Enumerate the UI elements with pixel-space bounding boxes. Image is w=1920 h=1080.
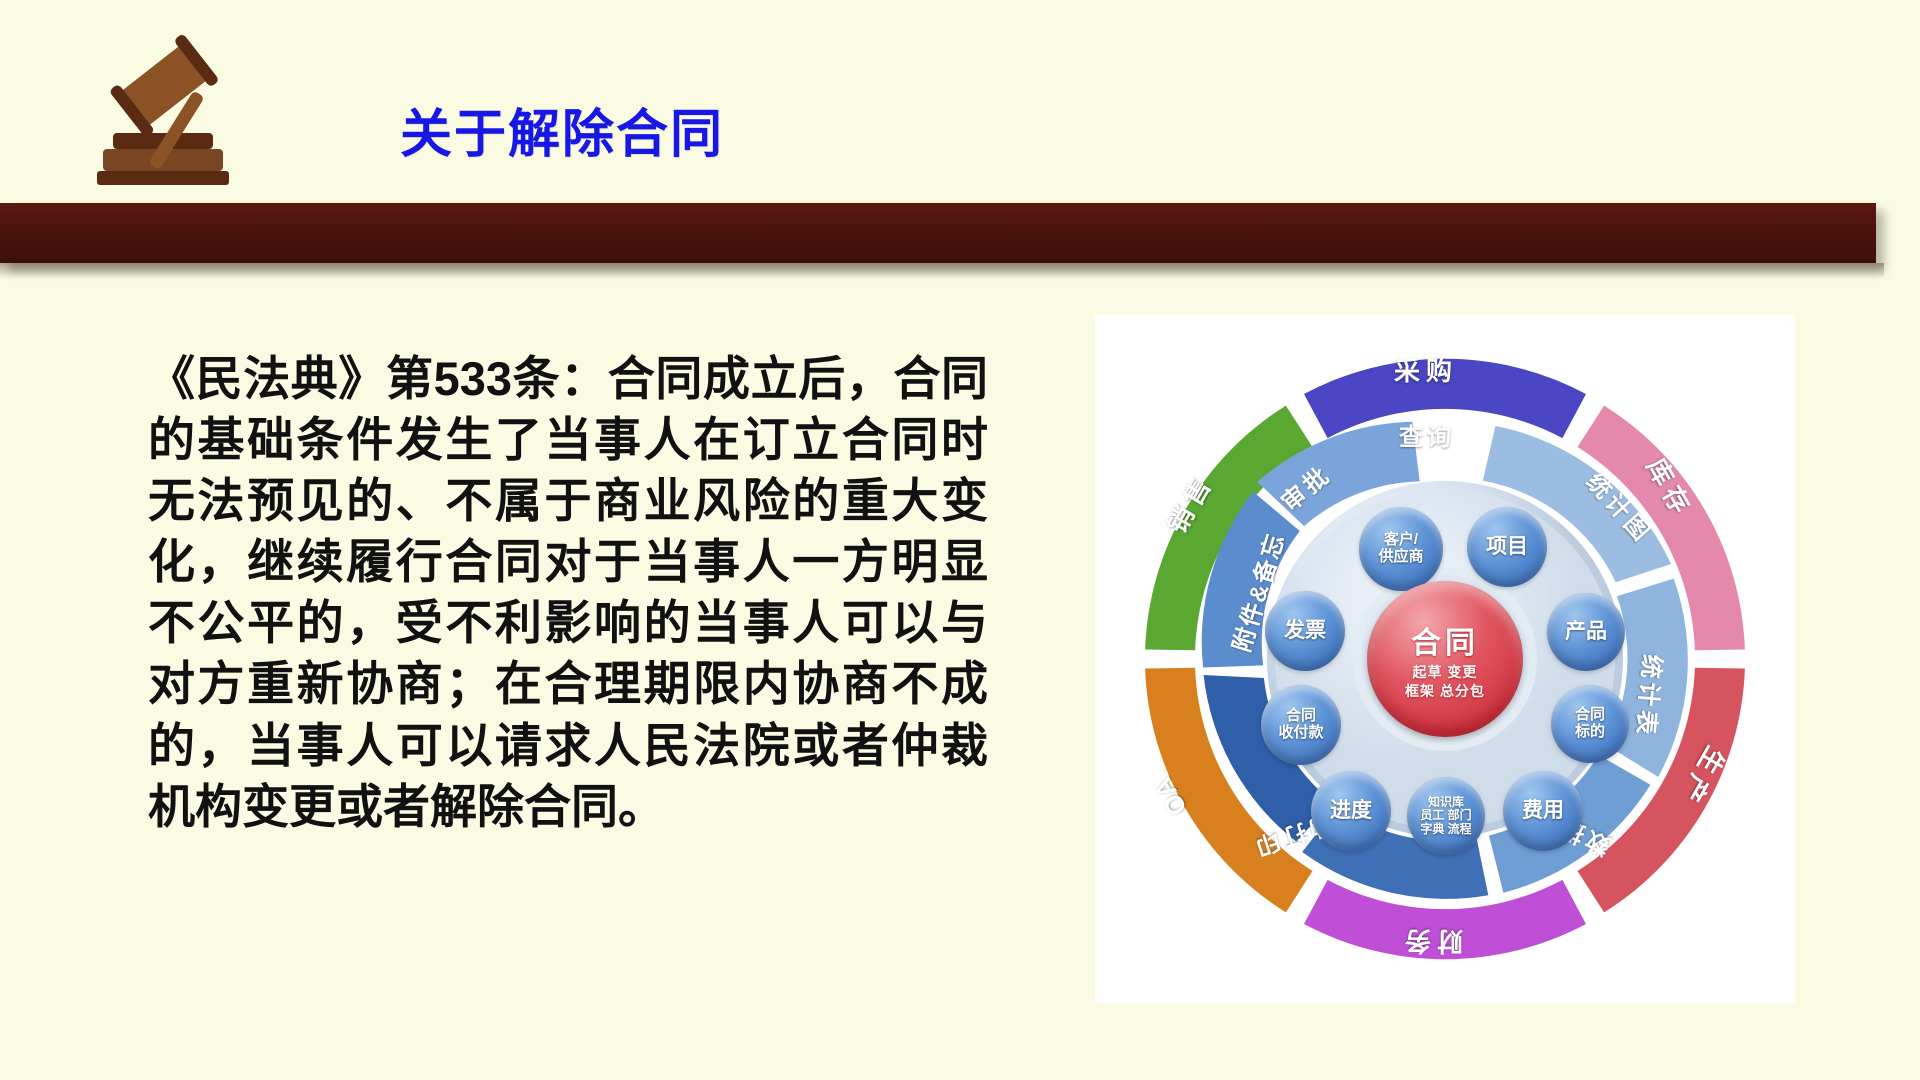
hub-sub-2: 框架 总分包 — [1405, 683, 1485, 700]
hub-title: 合同 — [1411, 618, 1479, 662]
gavel-icon — [75, 25, 255, 185]
node-label: 项目 — [1486, 535, 1528, 559]
node-label: 合同 标的 — [1575, 707, 1605, 741]
node-invoice: 发票 — [1265, 591, 1345, 671]
node-customer-supplier: 客户/ 供应商 — [1359, 507, 1443, 591]
node-cost: 费用 — [1503, 771, 1583, 851]
header-bar — [0, 203, 1876, 263]
node-project: 项目 — [1467, 507, 1547, 587]
node-contract-payment: 合同 收付款 — [1261, 685, 1341, 765]
body-paragraph: 《民法典》第533条：合同成立后，合同的基础条件发生了当事人在订立合同时无法预见… — [148, 348, 988, 837]
hub-contract: 合同 起草 变更 框架 总分包 — [1367, 581, 1523, 737]
node-label: 费用 — [1522, 799, 1564, 823]
contract-wheel-diagram: 采购 库存 生产 财务 OA 销售 查询 统计图 统计表 数据管理 自动打印 附… — [1095, 315, 1795, 1003]
node-progress: 进度 — [1311, 771, 1391, 851]
node-label: 进度 — [1330, 799, 1372, 823]
page-title: 关于解除合同 — [400, 92, 724, 167]
header-bar-shadow — [0, 263, 1884, 279]
kb-line-2: 员工 部门 — [1420, 809, 1471, 822]
node-label: 产品 — [1565, 620, 1607, 644]
node-contract-subject: 合同 标的 — [1551, 685, 1629, 763]
node-product: 产品 — [1547, 593, 1625, 671]
node-label: 客户/ 供应商 — [1378, 532, 1423, 566]
node-knowledge-base: 知识库 员工 部门 字典 流程 — [1407, 777, 1485, 855]
node-label: 发票 — [1284, 619, 1326, 643]
kb-line-3: 字典 流程 — [1420, 823, 1471, 836]
hub-sub-1: 起草 变更 — [1413, 664, 1478, 681]
node-label: 合同 收付款 — [1278, 708, 1323, 742]
